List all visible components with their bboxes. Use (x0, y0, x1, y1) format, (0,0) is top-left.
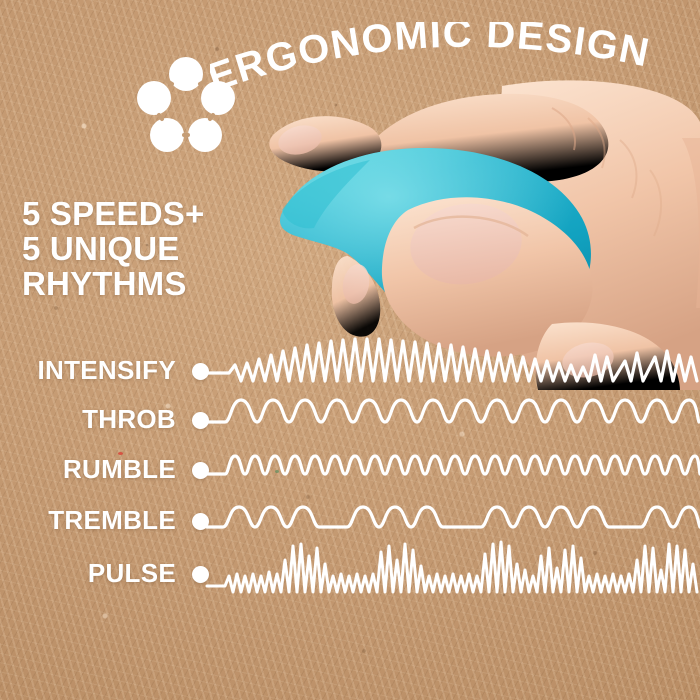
mode-label-intensify: INTENSIFY (38, 355, 177, 385)
mode-row-throb[interactable]: THROB (0, 398, 700, 444)
mode-row-pulse[interactable]: PULSE (0, 552, 700, 598)
mode-label-pulse: PULSE (88, 558, 176, 588)
mode-label-rumble: RUMBLE (63, 454, 176, 484)
headline-line-3: RHYTHMS (22, 266, 272, 301)
waveform-rumble (195, 444, 700, 498)
waveform-throb (195, 390, 700, 450)
product-feature-graphic: ERGONOMIC DESIGN (0, 0, 700, 700)
page-headline: 5 SPEEDS+ 5 UNIQUE RHYTHMS (22, 196, 272, 301)
mode-row-rumble[interactable]: RUMBLE (0, 448, 700, 494)
mode-label-tremble: TREMBLE (48, 505, 176, 535)
headline-line-2: 5 UNIQUE (22, 231, 272, 266)
mode-label-throb: THROB (82, 404, 176, 434)
waveform-pulse (195, 530, 700, 610)
mode-row-intensify[interactable]: INTENSIFY (0, 349, 700, 395)
brand-lockup: RUMBLETECH TM (0, 612, 700, 684)
headline-line-1: 5 SPEEDS+ (22, 196, 272, 231)
